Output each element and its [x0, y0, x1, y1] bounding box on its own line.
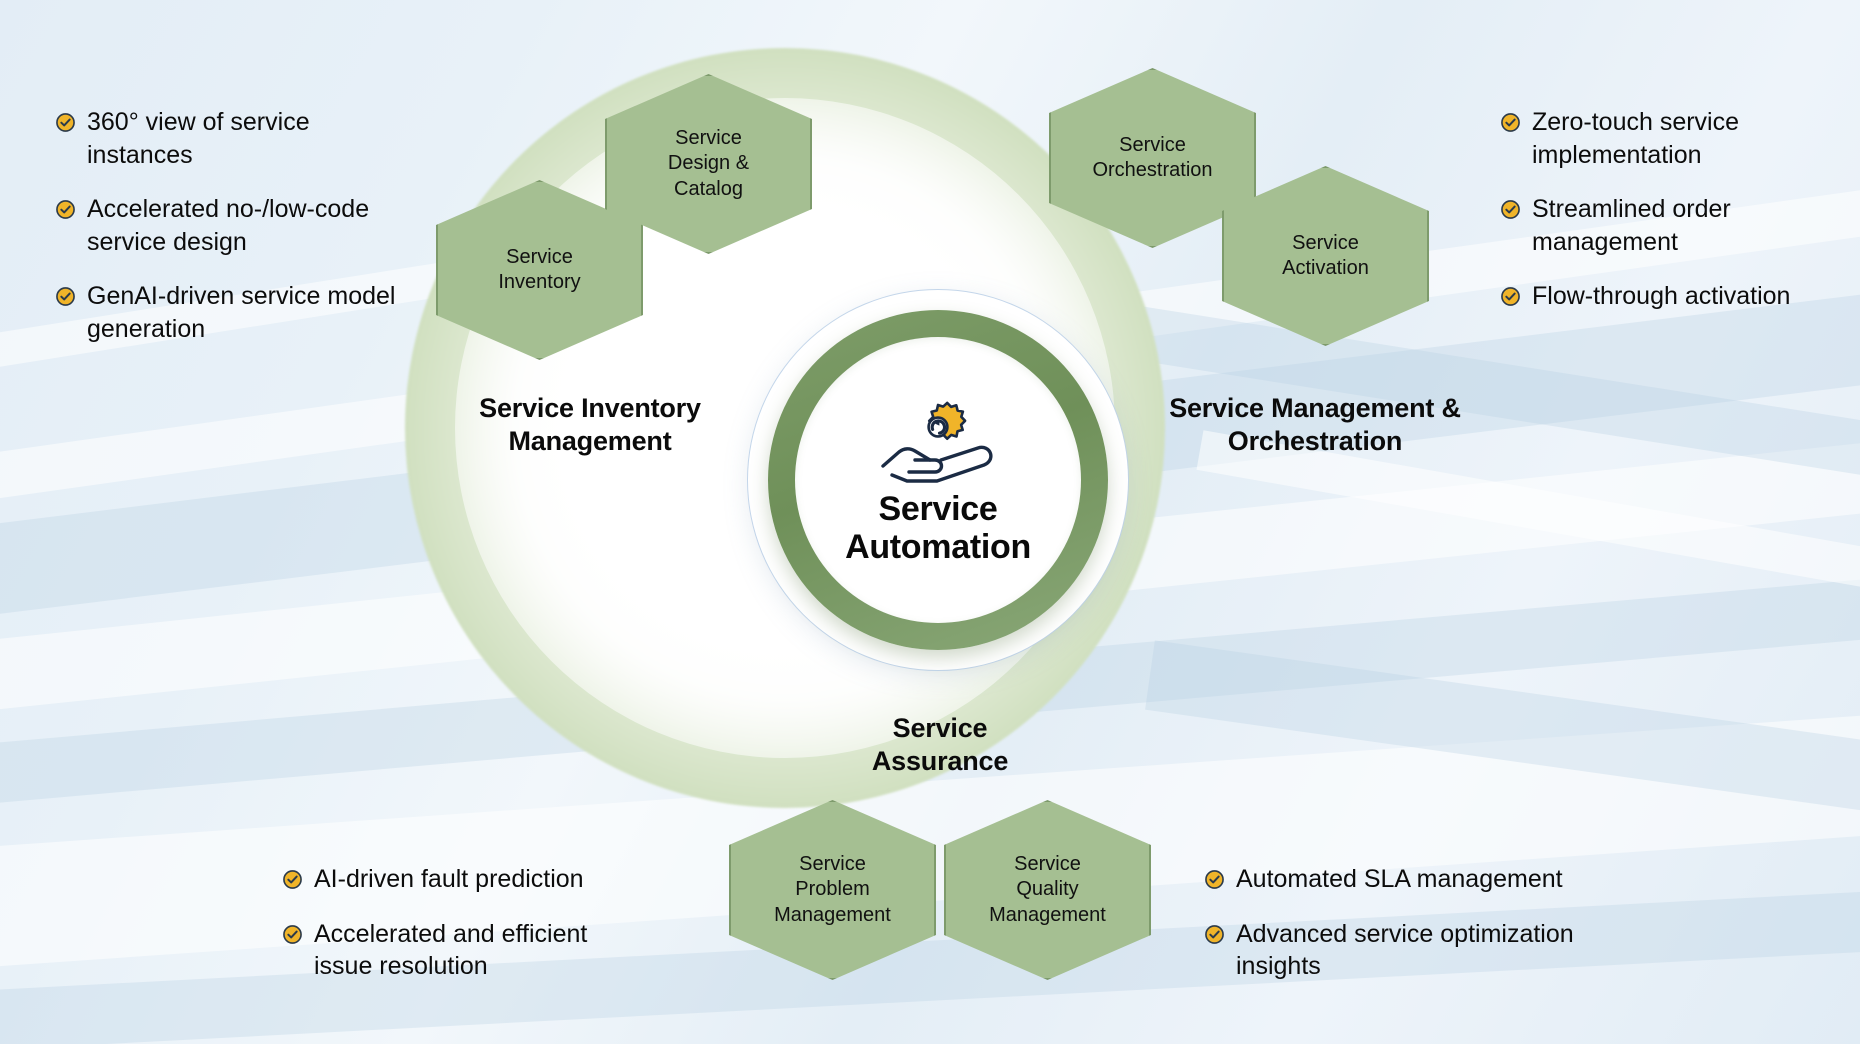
bullet-text: Accelerated and efficient issue resoluti…: [314, 918, 613, 983]
background-band: [1145, 640, 1860, 862]
check-circle-icon: [283, 870, 302, 889]
check-circle-icon: [1501, 287, 1520, 306]
bullet-item: Automated SLA management: [1205, 863, 1605, 896]
center-title-line2: Automation: [845, 528, 1031, 566]
hexagon-label-line: Service: [768, 852, 897, 877]
hexagon-label-line: Activation: [1276, 256, 1375, 281]
hexagon-label-line: Catalog: [662, 177, 755, 202]
section-title-service-assurance: Service Assurance: [790, 712, 1090, 778]
check-circle-icon: [1205, 870, 1224, 889]
hexagon-label-line: Design &: [662, 151, 755, 176]
check-circle-icon: [283, 925, 302, 944]
section-title-line1: Service: [790, 712, 1090, 745]
hexagon-label-line: Management: [768, 903, 897, 928]
hexagon-label-line: Service: [662, 126, 755, 151]
hexagon-label-line: Inventory: [492, 270, 586, 295]
bullet-text: Advanced service optimization insights: [1236, 918, 1605, 983]
bullet-item: Zero-touch service implementation: [1501, 106, 1831, 171]
bullet-item: Advanced service optimization insights: [1205, 918, 1605, 983]
bullet-item: GenAI-driven service model generation: [56, 280, 406, 345]
bullet-text: Automated SLA management: [1236, 863, 1563, 896]
hexagon-label-line: Quality: [983, 877, 1112, 902]
hexagon-label-line: Service: [492, 245, 586, 270]
section-title-service-inventory-management: Service Inventory Management: [420, 392, 760, 458]
hexagon-service-quality-management[interactable]: Service Quality Management: [944, 800, 1151, 980]
hexagon-service-problem-management[interactable]: Service Problem Management: [729, 800, 936, 980]
bullets-service-inventory-management: 360° view of service instances Accelerat…: [56, 106, 406, 345]
check-circle-icon: [56, 200, 75, 219]
center-title: Service Automation: [845, 490, 1031, 566]
bullet-text: GenAI-driven service model generation: [87, 280, 406, 345]
gear-in-hand-icon: [879, 394, 997, 486]
hexagon-label-line: Orchestration: [1086, 158, 1218, 183]
section-title-line2: Orchestration: [1110, 425, 1520, 458]
check-circle-icon: [1205, 925, 1224, 944]
bullet-text: AI-driven fault prediction: [314, 863, 584, 896]
hexagon-label-line: Service: [1086, 133, 1218, 158]
diagram-canvas: Service Automation Service Inventory Ser…: [0, 0, 1860, 1044]
bullet-item: Flow-through activation: [1501, 280, 1831, 313]
bullets-service-management-orchestration: Zero-touch service implementation Stream…: [1501, 106, 1831, 313]
section-title-line1: Service Management &: [1110, 392, 1520, 425]
hexagon-label-line: Service: [983, 852, 1112, 877]
bullet-item: Streamlined order management: [1501, 193, 1831, 258]
bullet-text: 360° view of service instances: [87, 106, 406, 171]
center-hub[interactable]: Service Automation: [795, 337, 1081, 623]
background-band: [1197, 430, 1860, 643]
check-circle-icon: [1501, 113, 1520, 132]
check-circle-icon: [56, 287, 75, 306]
section-title-line2: Assurance: [790, 745, 1090, 778]
bullet-text: Accelerated no-/low-code service design: [87, 193, 406, 258]
bullets-service-assurance-left: AI-driven fault prediction Accelerated a…: [283, 863, 613, 983]
bullet-item: Accelerated no-/low-code service design: [56, 193, 406, 258]
bullet-text: Flow-through activation: [1532, 280, 1790, 313]
bullet-text: Zero-touch service implementation: [1532, 106, 1831, 171]
center-title-line1: Service: [845, 490, 1031, 528]
hexagon-label-line: Management: [983, 903, 1112, 928]
bullet-text: Streamlined order management: [1532, 193, 1831, 258]
bullet-item: Accelerated and efficient issue resoluti…: [283, 918, 613, 983]
check-circle-icon: [1501, 200, 1520, 219]
section-title-service-management-orchestration: Service Management & Orchestration: [1110, 392, 1520, 458]
bullet-item: 360° view of service instances: [56, 106, 406, 171]
section-title-line1: Service Inventory: [420, 392, 760, 425]
section-title-line2: Management: [420, 425, 760, 458]
hexagon-label-line: Problem: [768, 877, 897, 902]
bullets-service-assurance-right: Automated SLA management Advanced servic…: [1205, 863, 1605, 983]
bullet-item: AI-driven fault prediction: [283, 863, 613, 896]
hexagon-label-line: Service: [1276, 231, 1375, 256]
check-circle-icon: [56, 113, 75, 132]
